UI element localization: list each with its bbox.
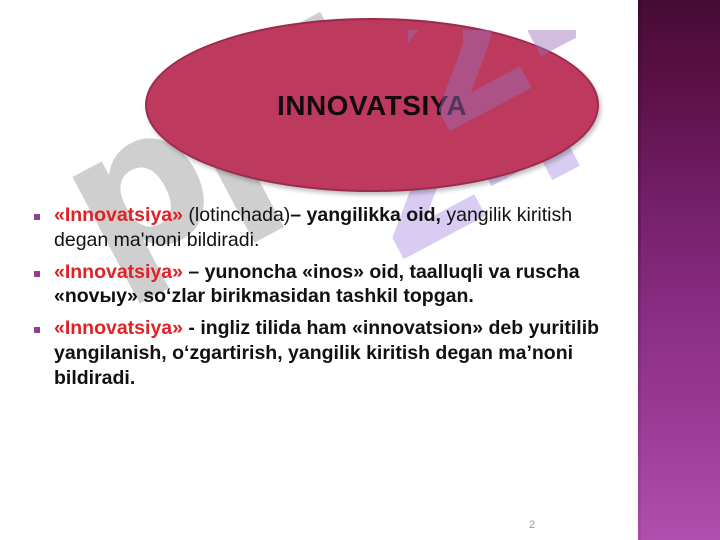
bullet-text: «Innovatsiya» - ingliz tilida ham «innov… [54,316,606,390]
bullet-list: «Innovatsiya» (lotinchada)– yangilikka o… [34,203,606,397]
side-gradient-band [641,0,720,540]
square-bullet-icon [34,271,40,277]
bullet-text-run: «Innovatsiya» [54,204,188,226]
square-bullet-icon [34,327,40,333]
title-ellipse-shape: INNOVATSIYA [145,18,599,192]
bullet-item: «Innovatsiya» - ingliz tilida ham «innov… [34,316,606,390]
bullet-text-run: – yangilikka oid, [290,204,441,226]
bullet-text-run: «Innovatsiya» [54,261,188,283]
bullet-text-run: (lotinchada) [188,204,290,226]
page-number: 2 [529,519,535,531]
bullet-item: «Innovatsiya» – yunoncha «inos» oid, taa… [34,260,606,310]
bullet-text-run: «Innovatsiya» [54,317,188,339]
bullet-text: «Innovatsiya» (lotinchada)– yangilikka o… [54,203,606,253]
slide-title: INNOVATSIYA [277,90,467,122]
presentation-slide: ppt 24 INNOVATSIYA 24 «Innovatsiya» (lot… [0,0,720,540]
bullet-text: «Innovatsiya» – yunoncha «inos» oid, taa… [54,260,606,310]
bullet-item: «Innovatsiya» (lotinchada)– yangilikka o… [34,203,606,253]
square-bullet-icon [34,214,40,220]
